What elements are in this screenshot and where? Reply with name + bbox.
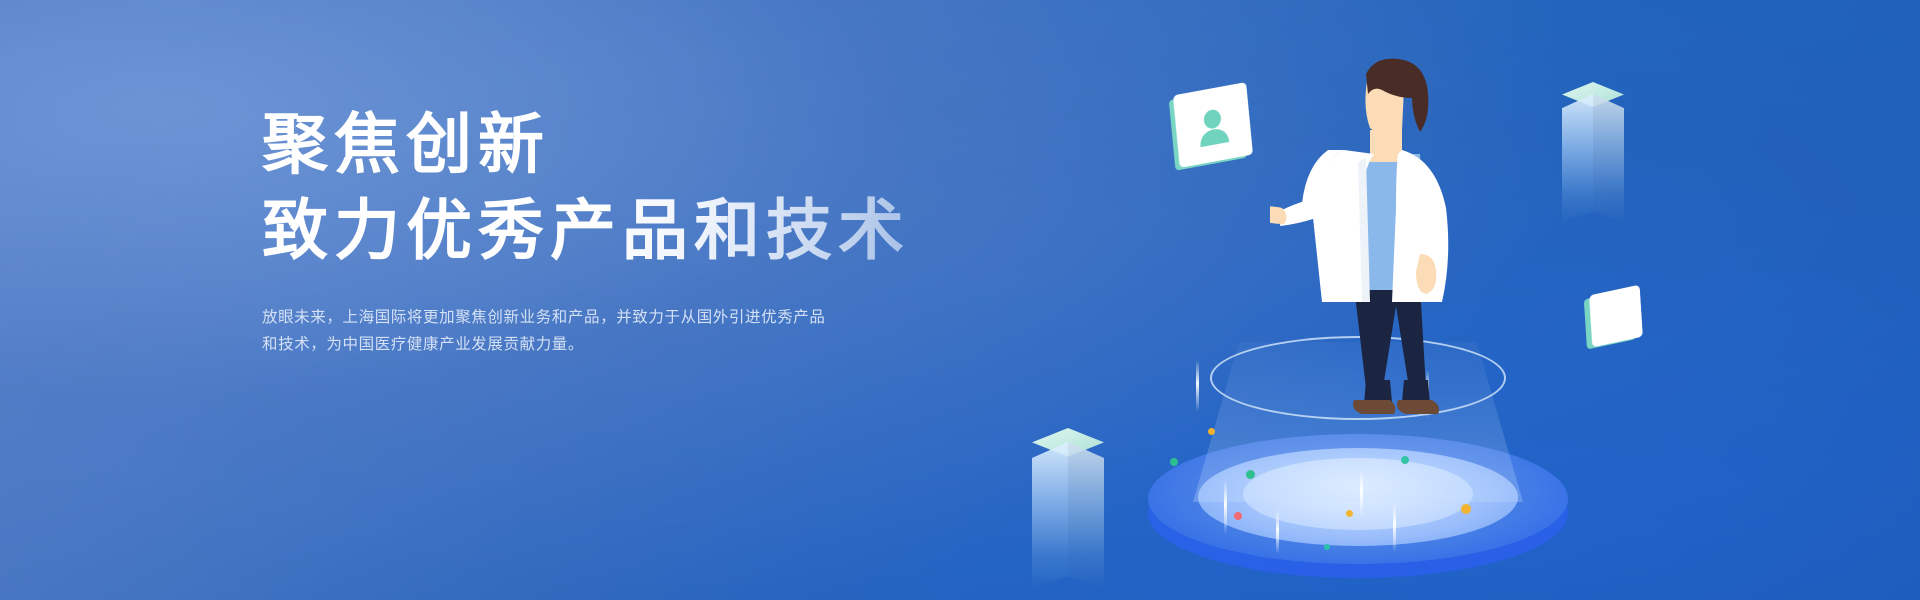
particle-dot <box>1208 428 1215 435</box>
doctor-left-shoe <box>1353 400 1395 414</box>
doctor-right-leg-lower <box>1402 380 1430 404</box>
light-streak <box>1393 502 1396 552</box>
prism-top-face <box>1032 428 1104 458</box>
doctor-right-shoe <box>1397 400 1439 414</box>
tall-prism-left-icon <box>1032 428 1104 588</box>
doctor-pointing-hand <box>1270 206 1287 224</box>
light-streak <box>1196 360 1199 412</box>
prism-body-right <box>1068 442 1104 588</box>
doctor-face <box>1365 76 1404 135</box>
light-streak <box>1224 480 1227 534</box>
tall-prism-right-icon <box>1562 82 1624 222</box>
hero-banner: 聚焦创新 致力优秀产品和技术 放眼未来，上海国际将更加聚焦创新业务和产品，并致力… <box>0 0 1920 600</box>
doctor-coat-right-panel <box>1392 150 1448 302</box>
paragraph-line-2: 和技术，为中国医疗健康产业发展贡献力量。 <box>262 331 852 359</box>
floating-mini-card-icon <box>1589 285 1643 348</box>
doctor-coat-seam <box>1358 158 1370 302</box>
platform-inner-ring <box>1243 458 1473 530</box>
particle-dot <box>1324 544 1330 550</box>
particle-dot <box>1461 504 1471 514</box>
doctor-coat-left-panel <box>1312 150 1374 302</box>
user-profile-card-icon <box>1173 82 1253 168</box>
headline-line-1: 聚焦创新 <box>262 108 962 182</box>
user-avatar-icon <box>1192 103 1233 149</box>
prism-body-right <box>1593 94 1624 222</box>
prism-body-left <box>1032 442 1068 588</box>
hologram-platform <box>1148 392 1568 592</box>
particle-dot <box>1346 510 1353 517</box>
doctor-trousers <box>1354 286 1426 394</box>
prism-top-face <box>1562 82 1624 108</box>
light-streak <box>1360 470 1363 516</box>
doctor-right-hand <box>1416 254 1436 294</box>
particle-dot <box>1234 512 1242 520</box>
doctor-shirt <box>1348 154 1426 290</box>
hologram-cylinder <box>1193 342 1523 502</box>
doctor-left-forearm <box>1280 198 1316 226</box>
card-face <box>1173 82 1253 168</box>
headline-line-2: 致力优秀产品和技术 <box>262 194 962 268</box>
doctor-coat-left-sleeve <box>1302 150 1344 208</box>
particle-dot <box>1246 470 1255 479</box>
platform-outer-ring <box>1148 434 1568 564</box>
light-streak <box>1276 510 1279 554</box>
particle-dot <box>1401 456 1409 464</box>
light-streak <box>1426 370 1429 418</box>
prism-body-left <box>1562 94 1593 222</box>
doctor-figure <box>1270 58 1510 458</box>
platform-mid-ring <box>1198 448 1518 546</box>
doctor-left-leg-lower <box>1364 380 1392 404</box>
paragraph-line-1: 放眼未来，上海国际将更加聚焦创新业务和产品，并致力于从国外引进优秀产品 <box>262 304 852 332</box>
banner-paragraph: 放眼未来，上海国际将更加聚焦创新业务和产品，并致力于从国外引进优秀产品 和技术，… <box>262 304 852 359</box>
hologram-rim-ellipse <box>1210 336 1506 420</box>
banner-copy: 聚焦创新 致力优秀产品和技术 放眼未来，上海国际将更加聚焦创新业务和产品，并致力… <box>262 108 962 359</box>
doctor-coat-right-sleeve <box>1420 208 1441 282</box>
particle-dot <box>1170 458 1178 466</box>
doctor-neck <box>1370 130 1402 162</box>
doctor-hair <box>1366 59 1428 132</box>
